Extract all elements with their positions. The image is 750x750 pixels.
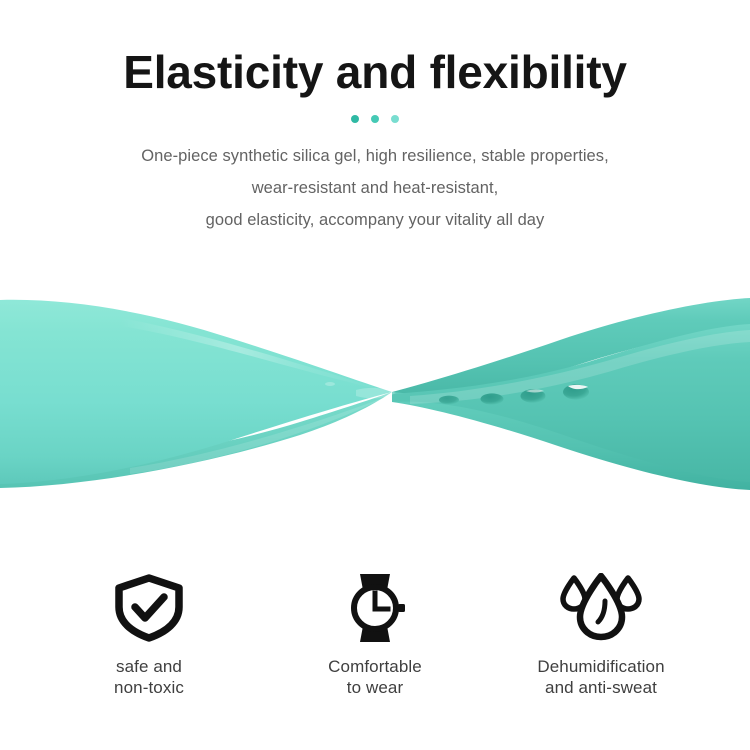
subtitle-line-2: wear-resistant and heat-resistant, — [0, 172, 750, 204]
water-droplets-glyph — [559, 573, 643, 643]
feature-label-safe-non-toxic: safe and non-toxic — [114, 656, 184, 698]
adjustment-hole-2 — [481, 393, 504, 404]
shield-check-glyph — [112, 574, 186, 642]
twisted-band-illustration — [0, 272, 750, 522]
band-center-pinch — [356, 388, 396, 399]
feature-item-comfortable-to-wear: Comfortable to wear — [265, 572, 485, 698]
water-droplets-icon — [559, 572, 643, 644]
divider-dot-1 — [351, 115, 359, 123]
page-title: Elasticity and flexibility — [0, 0, 750, 100]
divider-dot-3 — [391, 115, 399, 123]
feature-label-dehumidification: Dehumidification and anti-sweat — [537, 656, 664, 698]
subtitle-line-1: One-piece synthetic silica gel, high res… — [0, 140, 750, 172]
feature-item-safe-non-toxic: safe and non-toxic — [39, 572, 259, 698]
feature-label-comfortable-to-wear: Comfortable to wear — [328, 656, 422, 698]
header-section: Elasticity and flexibility One-piece syn… — [0, 0, 750, 236]
wristwatch-glyph — [338, 572, 412, 644]
divider-dot-2 — [371, 115, 379, 123]
adjustment-hole-1 — [439, 396, 459, 405]
feature-item-dehumidification: Dehumidification and anti-sweat — [491, 572, 711, 698]
product-image — [0, 272, 750, 522]
feature-row: safe and non-toxic Comfortable to we — [0, 572, 750, 698]
product-feature-banner: Elasticity and flexibility One-piece syn… — [0, 0, 750, 750]
subtitle-line-3: good elasticity, accompany your vitality… — [0, 204, 750, 236]
shield-check-icon — [112, 572, 186, 644]
subtitle-block: One-piece synthetic silica gel, high res… — [0, 140, 750, 236]
surface-speck — [325, 382, 335, 386]
decorative-dot-divider — [0, 114, 750, 124]
wristwatch-icon — [338, 572, 412, 644]
